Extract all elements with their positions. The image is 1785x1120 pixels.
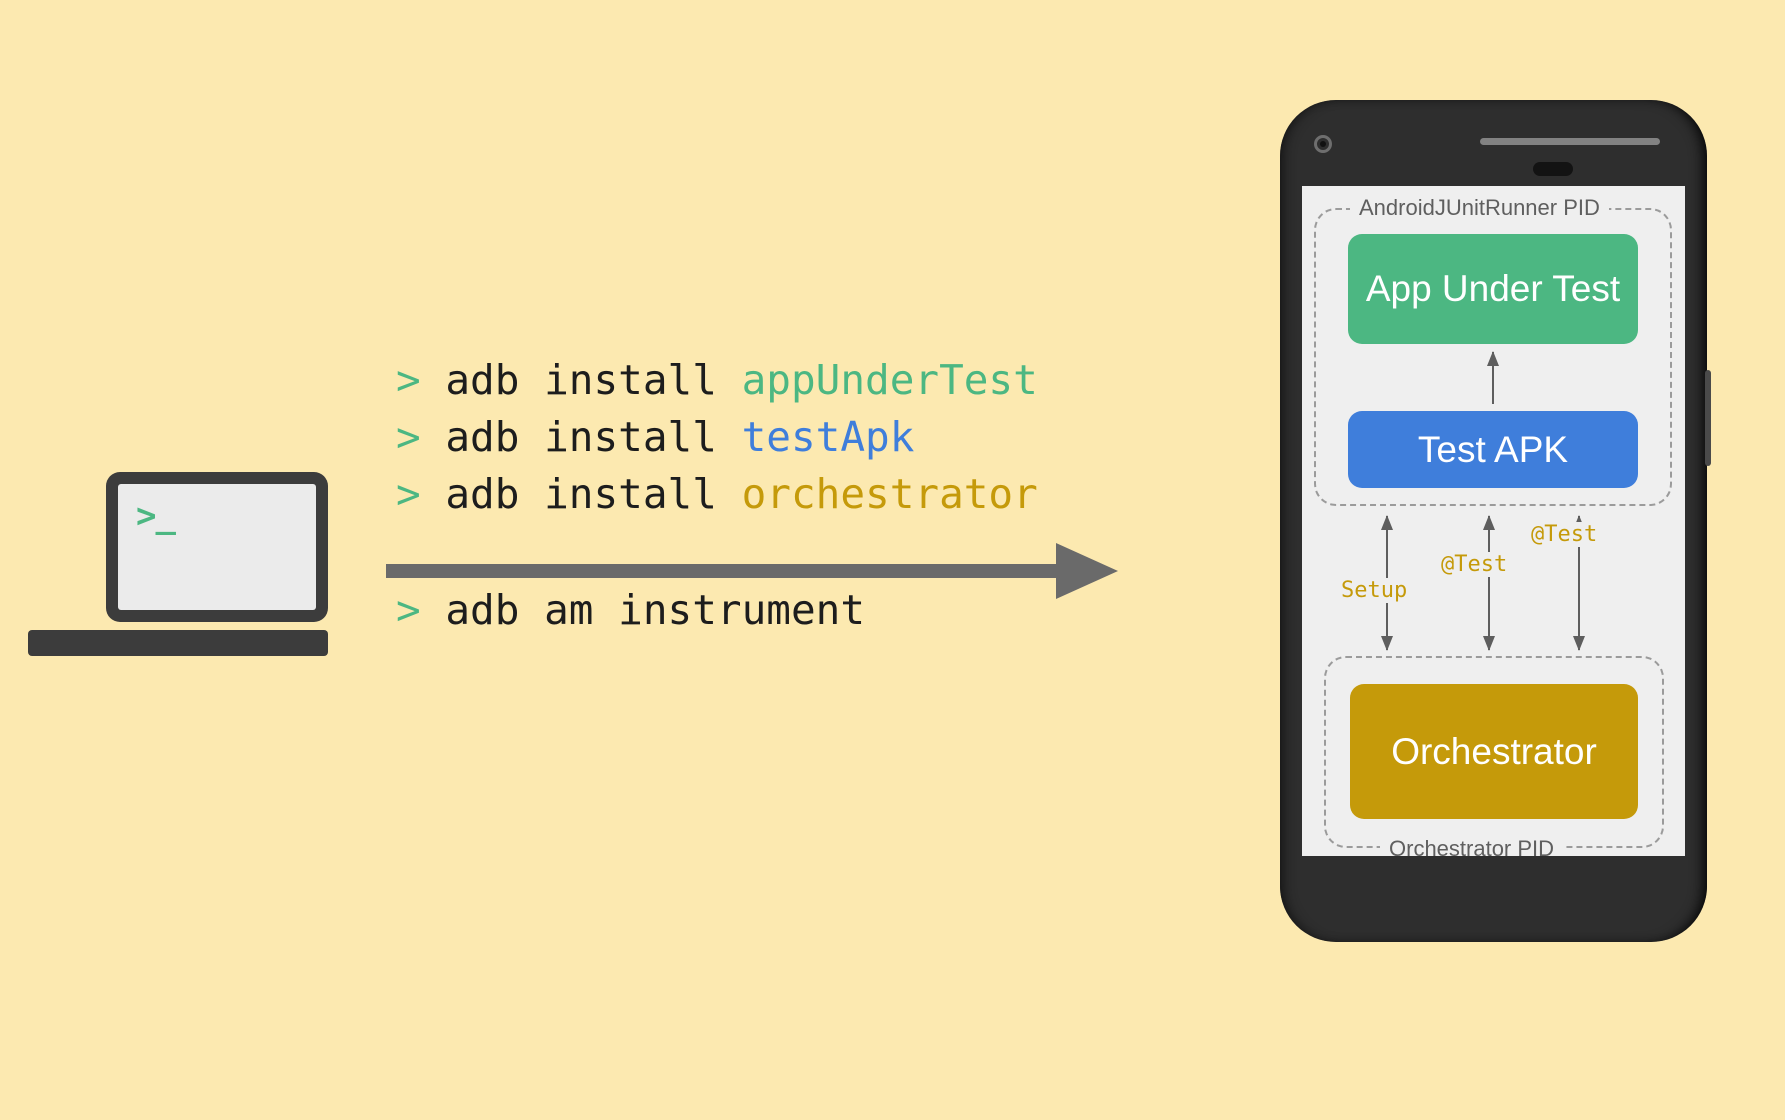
command-text: adb install (445, 470, 741, 518)
arrow-line (1488, 516, 1490, 650)
arrow-head-up-icon (1483, 515, 1495, 530)
arrow-label-test-2: @Test (1528, 522, 1600, 547)
command-line: > adb install appUnderTest (396, 352, 1156, 409)
command-argument: testApk (742, 413, 915, 461)
flow-arrow-icon (386, 543, 1126, 599)
android-device: AndroidJUnitRunner PID App Under Test Te… (1280, 100, 1707, 942)
arrow-head-up-icon (1381, 515, 1393, 530)
process-group-label-runner: AndroidJUnitRunner PID (1350, 195, 1609, 221)
node-app-under-test: App Under Test (1348, 234, 1638, 344)
laptop-screen: >_ (118, 484, 316, 610)
command-argument: appUnderTest (742, 356, 1038, 404)
command-line: > adb install orchestrator (396, 466, 1156, 523)
command-argument: orchestrator (742, 470, 1038, 518)
device-screen: AndroidJUnitRunner PID App Under Test Te… (1302, 186, 1685, 856)
arrow-label-setup: Setup (1338, 578, 1410, 603)
arrow-test-1 (1482, 516, 1496, 650)
flow-arrow-head (1056, 543, 1118, 599)
arrow-head-down-icon (1381, 636, 1393, 651)
node-test-apk: Test APK (1348, 411, 1638, 488)
laptop-terminal-icon: >_ (28, 472, 343, 687)
front-camera-icon (1314, 135, 1332, 153)
command-text: adb install (445, 356, 741, 404)
laptop-base (28, 630, 328, 656)
earpiece-speaker-icon (1480, 138, 1660, 145)
arrow-testapk-to-appundertest (1486, 352, 1500, 404)
prompt-chevron-icon: > (396, 413, 421, 461)
arrow-head-down-icon (1483, 636, 1495, 651)
flow-arrow-shaft (386, 564, 1062, 578)
arrow-head-up-icon (1487, 351, 1499, 366)
prompt-chevron-icon: > (396, 470, 421, 518)
prompt-chevron-icon: > (396, 356, 421, 404)
diagram-canvas: >_ > adb install appUnderTest > adb inst… (0, 0, 1785, 1120)
terminal-prompt-icon: >_ (136, 502, 175, 530)
command-line: > adb install testApk (396, 409, 1156, 466)
command-text: adb install (445, 413, 741, 461)
laptop-lid: >_ (106, 472, 328, 622)
process-group-label-orchestrator: Orchestrator PID (1380, 836, 1563, 856)
arrow-label-test-1: @Test (1438, 552, 1510, 577)
proximity-sensor-icon (1533, 162, 1573, 176)
node-orchestrator: Orchestrator (1350, 684, 1638, 819)
power-button[interactable] (1705, 370, 1711, 466)
arrow-head-down-icon (1573, 636, 1585, 651)
